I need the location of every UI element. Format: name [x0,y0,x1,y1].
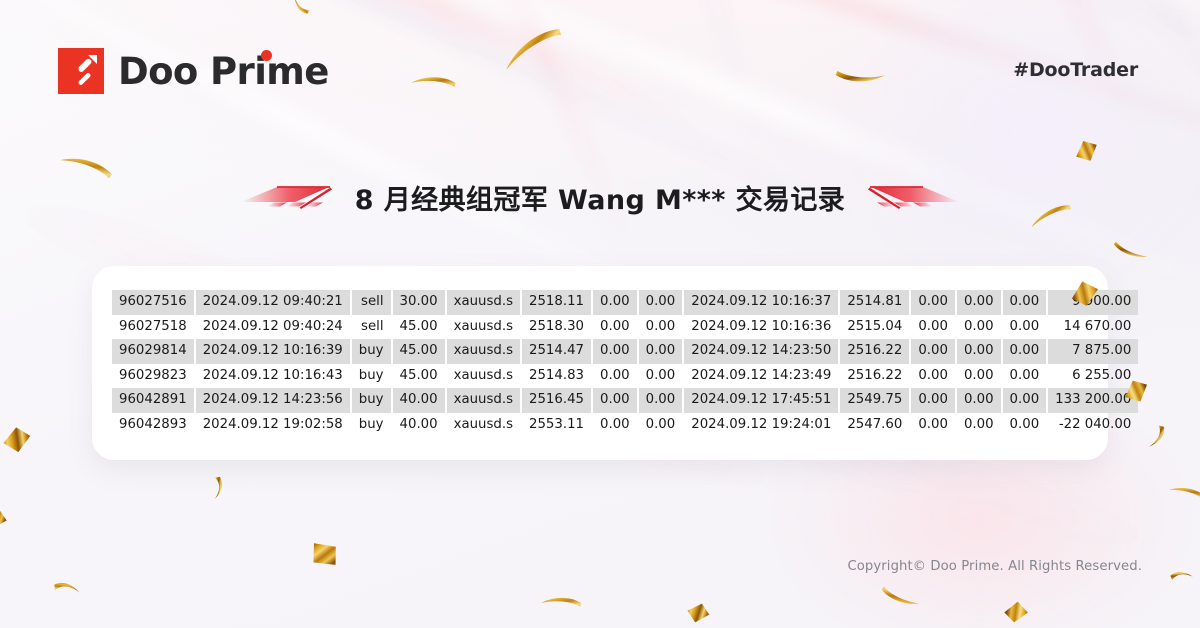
cell-type: sell [352,315,391,340]
cell-s-l: 0.00 [593,315,637,340]
cell-profit: 7 875.00 [1048,339,1138,364]
cell-close-time: 2024.09.12 14:23:50 [684,339,838,364]
cell-size: 30.00 [393,290,445,315]
cell-close-price: 2514.81 [840,290,909,315]
speed-lines-icon [237,181,333,215]
cell-price: 2518.11 [522,290,591,315]
cell-s-l: 0.00 [593,290,637,315]
brand-logo: Doo Prime [58,48,329,94]
cell-swap: 0.00 [1003,388,1047,413]
table-row: 960275162024.09.12 09:40:21sell30.00xauu… [112,290,1138,315]
cell-price: 2518.30 [522,315,591,340]
table-row: 960428912024.09.12 14:23:56buy40.00xauus… [112,388,1138,413]
cell-open-time: 2024.09.12 19:02:58 [196,413,350,438]
logo-accent-dot-icon [261,50,272,61]
cell-profit: -22 040.00 [1048,413,1138,438]
cell-swap: 0.00 [1003,364,1047,389]
cell-price: 2553.11 [522,413,591,438]
cell-item: xauusd.s [447,364,520,389]
copyright-text: Copyright© Doo Prime. All Rights Reserve… [847,559,1142,574]
page-title: 8 月经典组冠军 Wang M*** 交易记录 [355,178,845,217]
headline-row: 8 月经典组冠军 Wang M*** 交易记录 [0,178,1200,217]
cell-close-price: 2515.04 [840,315,909,340]
cell-close-time: 2024.09.12 19:24:01 [684,413,838,438]
cell-open-time: 2024.09.12 09:40:21 [196,290,350,315]
cell-s-l: 0.00 [593,364,637,389]
table-row: 960298232024.09.12 10:16:43buy45.00xauus… [112,364,1138,389]
cell-close-time: 2024.09.12 17:45:51 [684,388,838,413]
cell-open-time: 2024.09.12 10:16:43 [196,364,350,389]
cell-ticket: 96042893 [112,413,194,438]
cell-taxes: 0.00 [957,413,1001,438]
cell-open-time: 2024.09.12 09:40:24 [196,315,350,340]
cell-s-l: 0.00 [593,388,637,413]
cell-price: 2516.45 [522,388,591,413]
cell-ticket: 96042891 [112,388,194,413]
cell-close-price: 2516.22 [840,364,909,389]
cell-size: 45.00 [393,364,445,389]
cell-t-p: 0.00 [639,339,683,364]
cell-type: sell [352,290,391,315]
cell-item: xauusd.s [447,413,520,438]
cell-taxes: 0.00 [957,388,1001,413]
cell-type: buy [352,364,391,389]
cell-swap: 0.00 [1003,413,1047,438]
cell-size: 45.00 [393,339,445,364]
cell-open-time: 2024.09.12 14:23:56 [196,388,350,413]
cell-close-time: 2024.09.12 14:23:49 [684,364,838,389]
campaign-hashtag: #DooTrader [1013,59,1138,81]
cell-item: xauusd.s [447,388,520,413]
trades-table: 960275162024.09.12 09:40:21sell30.00xauu… [110,290,1140,438]
table-row: 960428932024.09.12 19:02:58buy40.00xauus… [112,413,1138,438]
cell-item: xauusd.s [447,290,520,315]
cell-ticket: 96029814 [112,339,194,364]
cell-size: 45.00 [393,315,445,340]
cell-s-l: 0.00 [593,339,637,364]
cell-taxes: 0.00 [957,290,1001,315]
cell-commission: 0.00 [911,388,955,413]
cell-item: xauusd.s [447,339,520,364]
cell-open-time: 2024.09.12 10:16:39 [196,339,350,364]
brand-logo-label: Doo Prime [118,50,329,93]
cell-ticket: 96027518 [112,315,194,340]
cell-close-price: 2549.75 [840,388,909,413]
cell-ticket: 96027516 [112,290,194,315]
cell-commission: 0.00 [911,413,955,438]
cell-commission: 0.00 [911,290,955,315]
cell-t-p: 0.00 [639,290,683,315]
cell-type: buy [352,413,391,438]
cell-close-time: 2024.09.12 10:16:37 [684,290,838,315]
doo-prime-logo-mark-icon [58,48,104,94]
cell-s-l: 0.00 [593,413,637,438]
brand-logo-text: Doo Prime [118,53,329,90]
cell-commission: 0.00 [911,364,955,389]
cell-size: 40.00 [393,388,445,413]
cell-taxes: 0.00 [957,364,1001,389]
cell-close-time: 2024.09.12 10:16:36 [684,315,838,340]
cell-type: buy [352,339,391,364]
cell-swap: 0.00 [1003,290,1047,315]
cell-t-p: 0.00 [639,388,683,413]
trades-table-body: 960275162024.09.12 09:40:21sell30.00xauu… [112,290,1138,438]
cell-ticket: 96029823 [112,364,194,389]
cell-type: buy [352,388,391,413]
cell-t-p: 0.00 [639,413,683,438]
cell-price: 2514.47 [522,339,591,364]
cell-size: 40.00 [393,413,445,438]
cell-t-p: 0.00 [639,315,683,340]
cell-price: 2514.83 [522,364,591,389]
cell-profit: 6 255.00 [1048,364,1138,389]
cell-taxes: 0.00 [957,315,1001,340]
cell-swap: 0.00 [1003,339,1047,364]
table-row: 960275182024.09.12 09:40:24sell45.00xauu… [112,315,1138,340]
cell-t-p: 0.00 [639,364,683,389]
cell-profit: 9 900.00 [1048,290,1138,315]
promo-banner: Doo Prime #DooTrader [0,0,1200,628]
cell-close-price: 2516.22 [840,339,909,364]
cell-profit: 133 200.00 [1048,388,1138,413]
cell-swap: 0.00 [1003,315,1047,340]
speed-lines-icon [867,181,963,215]
cell-item: xauusd.s [447,315,520,340]
cell-commission: 0.00 [911,339,955,364]
cell-taxes: 0.00 [957,339,1001,364]
cell-commission: 0.00 [911,315,955,340]
cell-profit: 14 670.00 [1048,315,1138,340]
table-row: 960298142024.09.12 10:16:39buy45.00xauus… [112,339,1138,364]
cell-close-price: 2547.60 [840,413,909,438]
